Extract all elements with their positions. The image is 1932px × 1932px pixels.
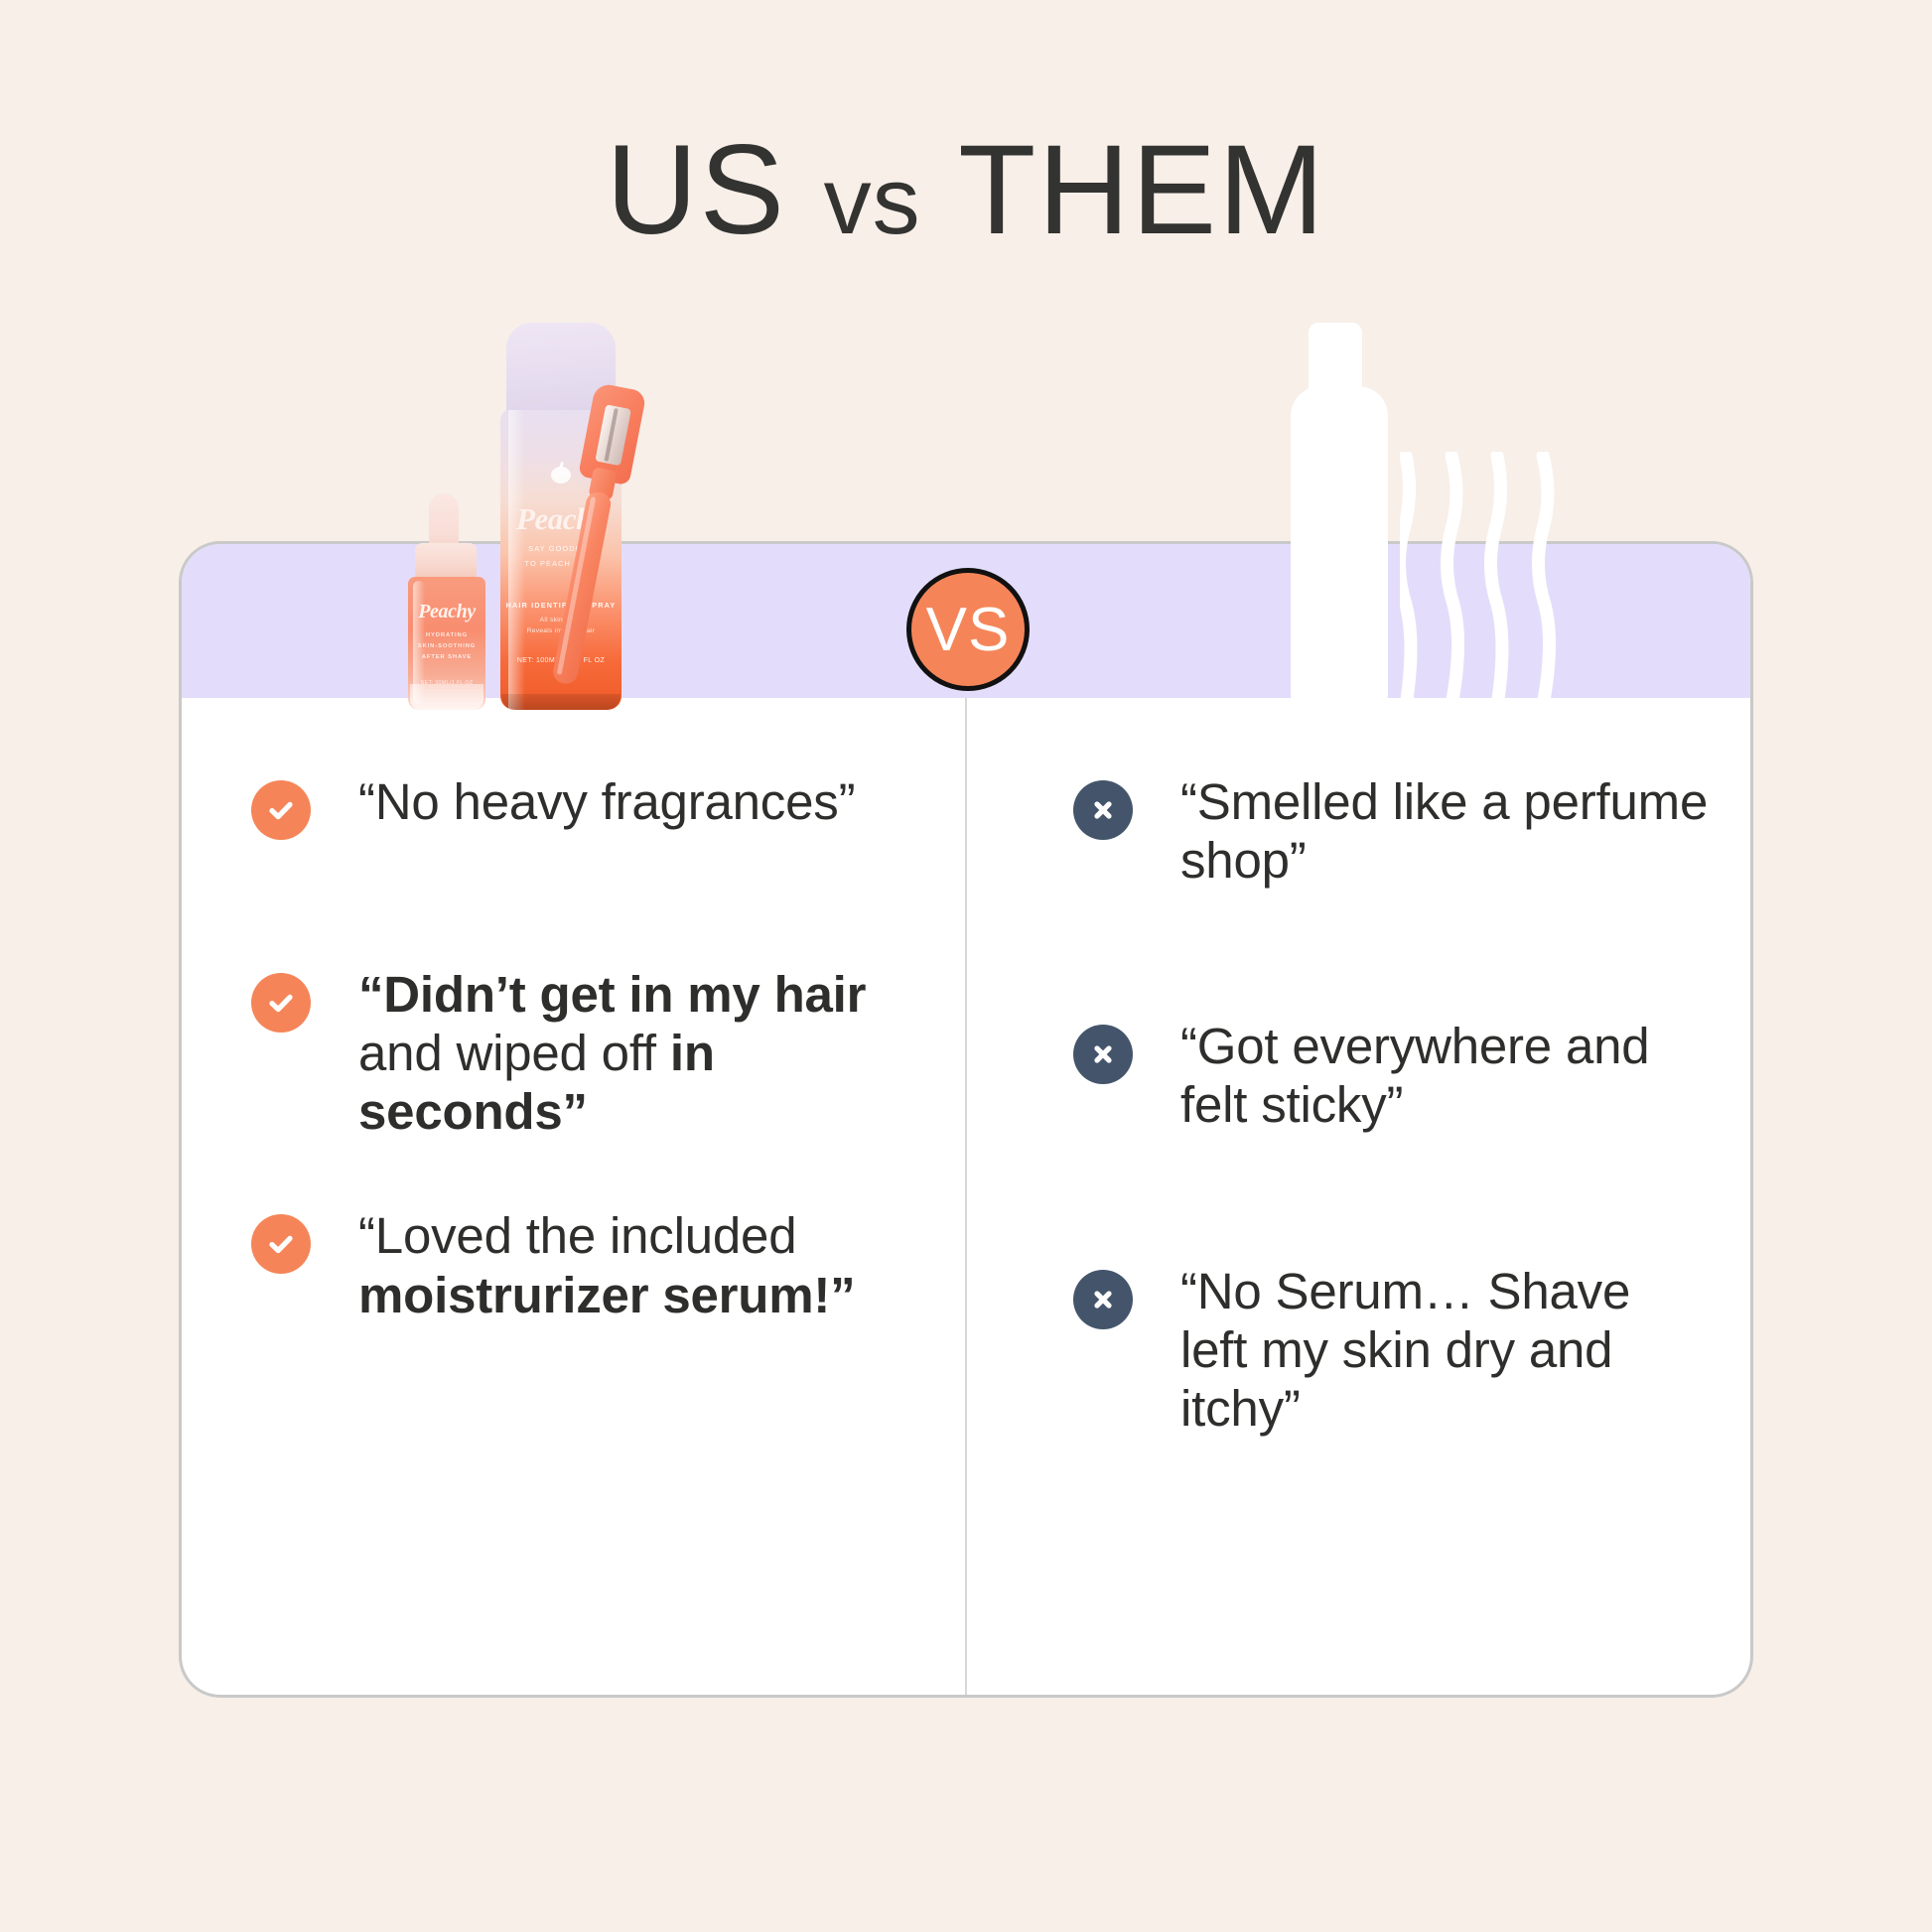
cross-icon (1073, 1025, 1133, 1084)
cross-icon (1073, 1270, 1133, 1329)
us-quote-2: “Didn’t get in my hair and wiped off in … (358, 965, 914, 1141)
page-title-vs: vs (824, 148, 921, 254)
us-quote-1: “No heavy fragrances” (358, 772, 855, 831)
them-quote-1: “Smelled like a perfume shop” (1180, 772, 1711, 890)
razor-blade (595, 404, 631, 466)
check-icon (251, 780, 311, 840)
check-icon (251, 1214, 311, 1274)
cross-icon (1073, 780, 1133, 840)
us-column: “No heavy fragrances” “Didn’t get in my … (182, 698, 966, 1698)
peach-logo-icon (551, 462, 571, 483)
comparison-card: “No heavy fragrances” “Didn’t get in my … (179, 541, 1753, 1698)
comparison-columns: “No heavy fragrances” “Didn’t get in my … (182, 698, 1750, 1698)
spray-can-brand-label: Peachy (500, 501, 621, 537)
list-item: “No Serum… Shave left my skin dry and it… (1073, 1262, 1711, 1438)
razor-neck (588, 467, 617, 500)
list-item: “No heavy fragrances” (251, 772, 926, 840)
list-item: “Smelled like a perfume shop” (1073, 772, 1711, 890)
competitor-bottle-neck (1309, 323, 1362, 404)
them-column: “Smelled like a perfume shop” “Got every… (966, 698, 1750, 1698)
list-item: “Loved the included moistrurizer serum!” (251, 1206, 926, 1323)
razor-head (578, 382, 646, 485)
vs-badge: VS (906, 568, 1030, 691)
list-item: “Got everywhere and felt sticky” (1073, 1017, 1711, 1134)
them-quote-2: “Got everywhere and felt sticky” (1180, 1017, 1711, 1134)
page-title-us: US (606, 119, 786, 261)
vs-badge-label: VS (926, 595, 1011, 665)
page-title-them: THEM (958, 119, 1326, 261)
them-quote-3: “No Serum… Shave left my skin dry and it… (1180, 1262, 1711, 1438)
spray-can-cap (506, 323, 616, 418)
page-title: US vs THEM (0, 127, 1932, 254)
competitor-bottle-shoulder (1291, 386, 1388, 430)
us-quote-3: “Loved the included moistrurizer serum!” (358, 1206, 914, 1323)
list-item: “Didn’t get in my hair and wiped off in … (251, 965, 926, 1141)
check-icon (251, 973, 311, 1033)
